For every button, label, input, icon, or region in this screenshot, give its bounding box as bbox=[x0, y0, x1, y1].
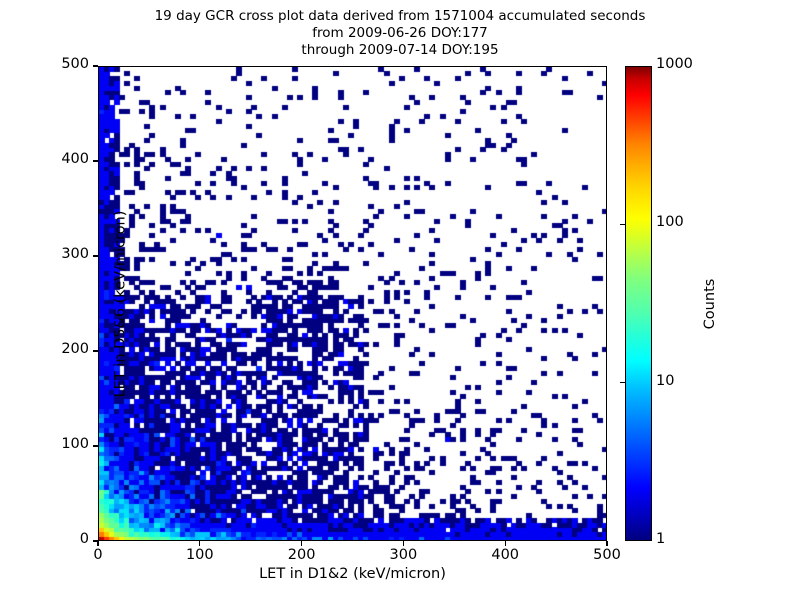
colorbar-tick-label: 10 bbox=[656, 373, 674, 389]
y-tick-mark bbox=[93, 65, 98, 66]
scatter-density-plot bbox=[99, 67, 607, 541]
y-tick-mark bbox=[93, 350, 98, 351]
x-axis-label: LET in D1&2 (keV/micron) bbox=[98, 566, 607, 582]
y-tick-mark bbox=[93, 160, 98, 161]
x-tick-label: 200 bbox=[257, 547, 347, 563]
x-tick-label: 500 bbox=[562, 547, 652, 563]
figure-canvas: 19 day GCR cross plot data derived from … bbox=[0, 0, 800, 600]
x-tick-label: 0 bbox=[53, 547, 143, 563]
colorbar bbox=[625, 66, 652, 541]
y-axis-label-wrap: LET in D5&6 (keV/micron) bbox=[0, 66, 60, 541]
x-tick-mark bbox=[403, 541, 404, 546]
colorbar-label: Counts bbox=[702, 278, 718, 329]
colorbar-label-wrap: Counts bbox=[690, 66, 730, 541]
title-line-2: from 2009-06-26 DOY:177 bbox=[0, 25, 800, 42]
x-tick-mark bbox=[505, 541, 506, 546]
y-tick-mark bbox=[93, 445, 98, 446]
x-tick-label: 300 bbox=[358, 547, 448, 563]
colorbar-tick-mark bbox=[620, 224, 625, 225]
x-tick-label: 400 bbox=[460, 547, 550, 563]
y-axis-label: LET in D5&6 (keV/micron) bbox=[112, 210, 128, 397]
x-tick-mark bbox=[199, 541, 200, 546]
x-tick-mark bbox=[97, 541, 98, 546]
plot-axes-frame bbox=[98, 66, 607, 541]
x-tick-mark bbox=[301, 541, 302, 546]
title-line-1: 19 day GCR cross plot data derived from … bbox=[0, 8, 800, 25]
y-tick-mark bbox=[93, 255, 98, 256]
colorbar-tick-label: 100 bbox=[656, 214, 684, 230]
x-tick-mark bbox=[606, 541, 607, 546]
plot-title: 19 day GCR cross plot data derived from … bbox=[0, 8, 800, 59]
x-tick-label: 100 bbox=[155, 547, 245, 563]
colorbar-tick-label: 1 bbox=[656, 531, 665, 547]
colorbar-tick-mark bbox=[620, 382, 625, 383]
colorbar-tick-label: 1000 bbox=[656, 56, 693, 72]
